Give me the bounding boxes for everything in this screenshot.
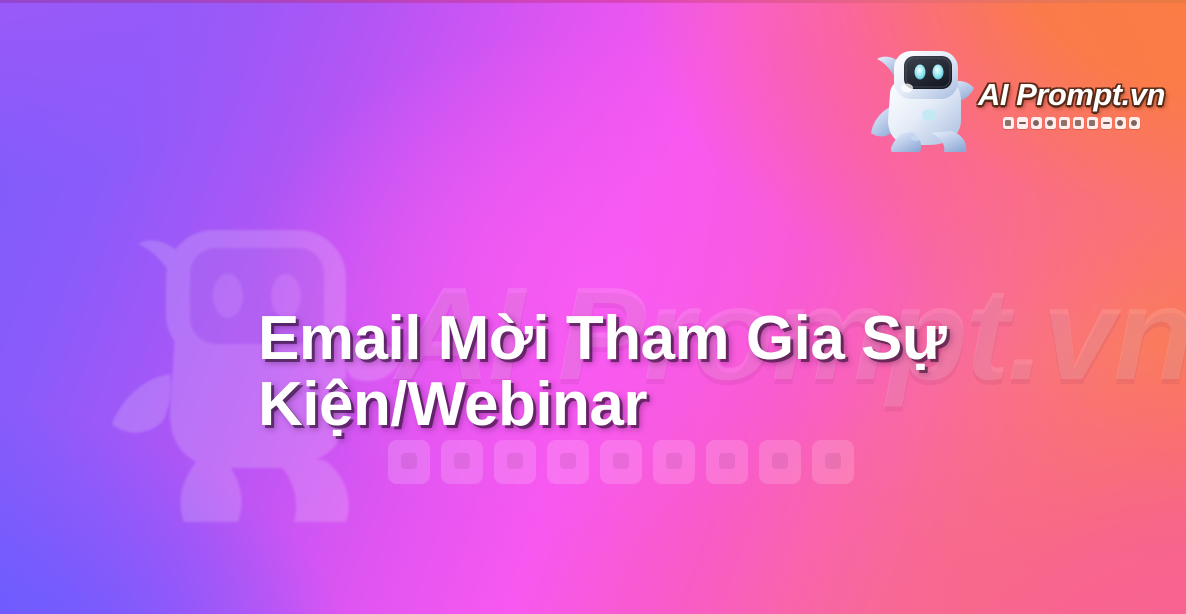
promo-banner: AI Prompt.vn Email Mời Tham Gia Sự Kiện/… — [0, 0, 1186, 614]
brand-chip-row — [1003, 117, 1141, 129]
refresh-icon — [1045, 117, 1057, 129]
circle-icon — [1031, 117, 1043, 129]
grid-icon — [1087, 117, 1099, 129]
link-icon — [1101, 117, 1113, 129]
robot-mascot-icon — [868, 40, 976, 152]
image-icon — [1059, 117, 1071, 129]
globe-icon — [1115, 117, 1127, 129]
page-title: Email Mời Tham Gia Sự Kiện/Webinar — [258, 306, 1018, 439]
brand-wordmark: AI Prompt.vn — [978, 79, 1165, 110]
top-edge-rule — [0, 0, 1186, 3]
plus-icon — [1129, 117, 1141, 129]
brand-logo-lockup[interactable]: AI Prompt.vn — [868, 34, 1146, 156]
lightning-icon — [1073, 117, 1085, 129]
brand-text-column: AI Prompt.vn — [978, 61, 1165, 129]
person-icon — [1003, 117, 1015, 129]
pen-icon — [1017, 117, 1029, 129]
